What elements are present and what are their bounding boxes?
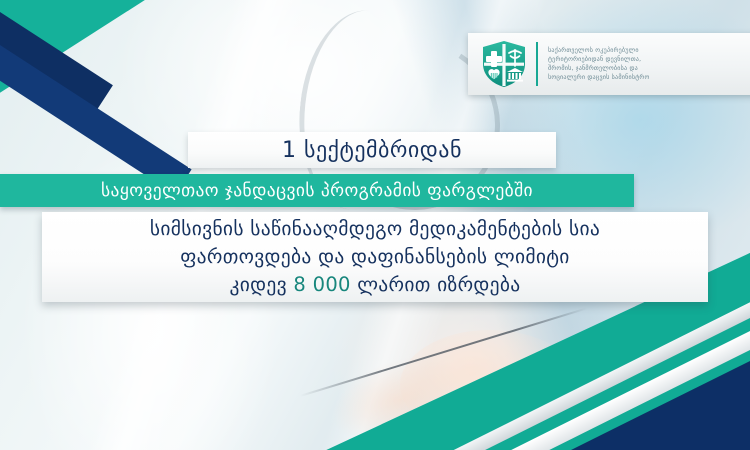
- program-label: საყოველთაო ჯანდაცვის პროგრამის ფარგლებში: [101, 181, 533, 201]
- ministry-logo-plate: საქართველოს ოკუპირებული ტერიტორიებიდან დ…: [468, 33, 750, 95]
- date-plate: 1 სექტემბრიდან: [188, 132, 556, 168]
- message-panel: სიმსივნის საწინააღმდეგო მედიკამენტების ს…: [42, 212, 708, 302]
- bottom-right-navy-triangle: [567, 360, 750, 450]
- ministry-name: საქართველოს ოკუპირებული ტერიტორიებიდან დ…: [548, 46, 649, 82]
- message-line-3-after: ლარით იზრდება: [351, 273, 521, 296]
- shield-icon: [480, 40, 528, 88]
- message-line-3-before: კიდევ: [230, 273, 294, 296]
- date-label: 1 სექტემბრიდან: [282, 138, 462, 163]
- message-line-1: სიმსივნის საწინააღმდეგო მედიკამენტების ს…: [150, 215, 600, 243]
- announcement-banner: საქართველოს ოკუპირებული ტერიტორიებიდან დ…: [0, 0, 750, 450]
- program-band: საყოველთაო ჯანდაცვის პროგრამის ფარგლებში: [0, 174, 634, 207]
- message-line-3: კიდევ 8 000 ლარით იზრდება: [230, 271, 521, 299]
- logo-divider: [536, 42, 538, 86]
- funding-amount: 8 000: [293, 273, 350, 296]
- message-line-2: ფართოვდება და დაფინანსების ლიმიტი: [180, 243, 569, 271]
